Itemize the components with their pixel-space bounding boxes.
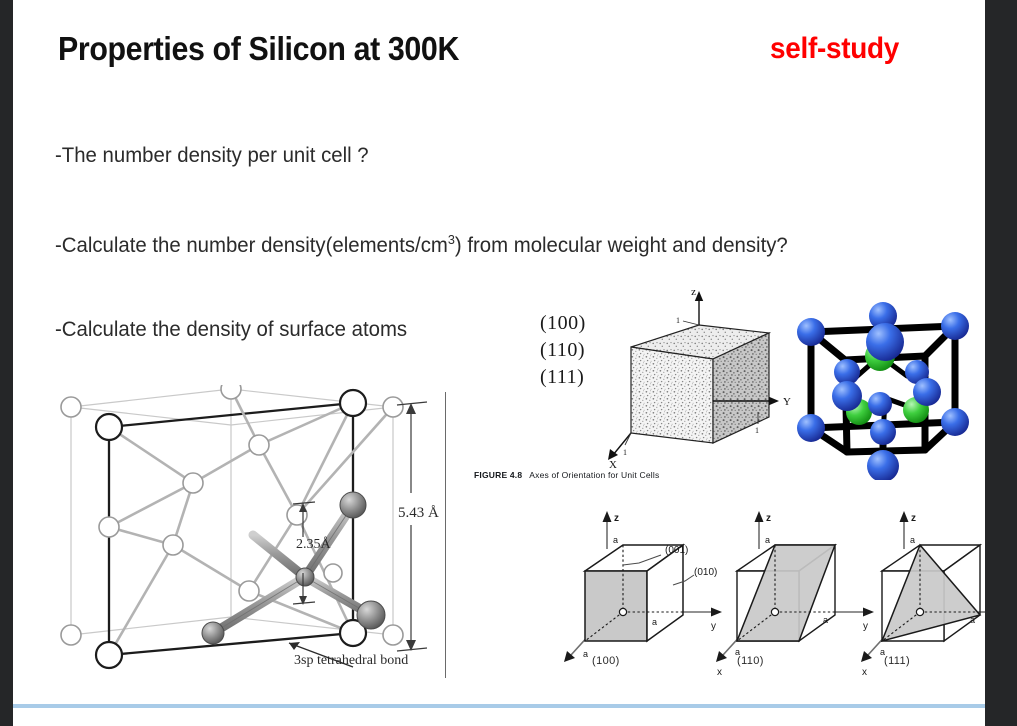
miller-index-110: (110) xyxy=(540,337,586,364)
tetrahedral-bond-callout: 3sp tetrahedral bond xyxy=(294,653,408,669)
bullet-2-prefix: -Calculate the number density(elements/c… xyxy=(55,234,448,257)
bullet-surface-atom-density: -Calculate the density of surface atoms xyxy=(55,318,407,342)
svg-text:1: 1 xyxy=(755,426,759,435)
self-study-badge: self-study xyxy=(770,32,899,66)
bullet-calculate-number-density: -Calculate the number density(elements/c… xyxy=(55,232,788,258)
blue-atom xyxy=(870,419,896,445)
svg-text:z: z xyxy=(691,286,696,298)
svg-text:(001): (001) xyxy=(665,545,688,556)
silicon-ball-and-stick-model xyxy=(785,300,985,480)
bullet-2-suffix: ) from molecular weight and density? xyxy=(455,234,788,257)
figure-number: FIGURE 4.8 xyxy=(474,470,522,480)
blue-atom xyxy=(941,312,969,340)
svg-text:1: 1 xyxy=(623,448,627,457)
bond-length-label: 2.35Å xyxy=(296,537,331,553)
plane-cube-110-caption: (110) xyxy=(737,655,764,667)
svg-text:a: a xyxy=(823,615,828,625)
figure-caption-text: Axes of Orientation for Unit Cells xyxy=(529,470,659,480)
svg-text:z: z xyxy=(766,513,771,524)
blue-atom xyxy=(797,318,825,346)
page-title: Properties of Silicon at 300K xyxy=(58,30,459,68)
lattice-constant-label: 5.43 Å xyxy=(398,505,439,522)
svg-text:a: a xyxy=(910,535,915,545)
svg-text:1: 1 xyxy=(676,316,680,325)
svg-text:a: a xyxy=(652,617,657,627)
svg-text:a: a xyxy=(583,649,588,659)
blue-atom xyxy=(797,414,825,442)
bullet-number-density: -The number density per unit cell ? xyxy=(55,144,369,168)
svg-text:x: x xyxy=(717,667,722,678)
blue-atom xyxy=(866,323,904,361)
figure-divider-rule xyxy=(445,392,446,678)
plane-cube-111-caption: (111) xyxy=(884,655,910,667)
figure-caption: FIGURE 4.8Axes of Orientation for Unit C… xyxy=(474,470,659,480)
slide-bottom-accent-rule xyxy=(13,704,985,708)
svg-text:X: X xyxy=(609,459,617,470)
svg-text:z: z xyxy=(614,513,619,524)
miller-index-100: (100) xyxy=(540,310,586,337)
axes-orientation-cube: z Y X 1 1 1 xyxy=(603,285,793,470)
plane-cube-100-caption: (100) xyxy=(592,655,620,667)
svg-text:a: a xyxy=(613,535,618,545)
blue-atom xyxy=(913,378,941,406)
miller-index-111: (111) xyxy=(540,364,586,391)
svg-text:a: a xyxy=(970,615,975,625)
miller-index-list: (100) (110) (111) xyxy=(540,310,586,391)
slide-canvas: Properties of Silicon at 300K self-study… xyxy=(13,0,985,726)
svg-text:x: x xyxy=(862,667,867,678)
blue-atom xyxy=(868,392,892,416)
blue-atom xyxy=(832,381,862,411)
svg-text:a: a xyxy=(765,535,770,545)
svg-text:z: z xyxy=(911,513,916,524)
slide-footer-area xyxy=(13,708,985,726)
diamond-lattice-diagram xyxy=(53,385,453,685)
blue-atom xyxy=(941,408,969,436)
plane-cube-111: z y x a a a xyxy=(858,505,985,680)
